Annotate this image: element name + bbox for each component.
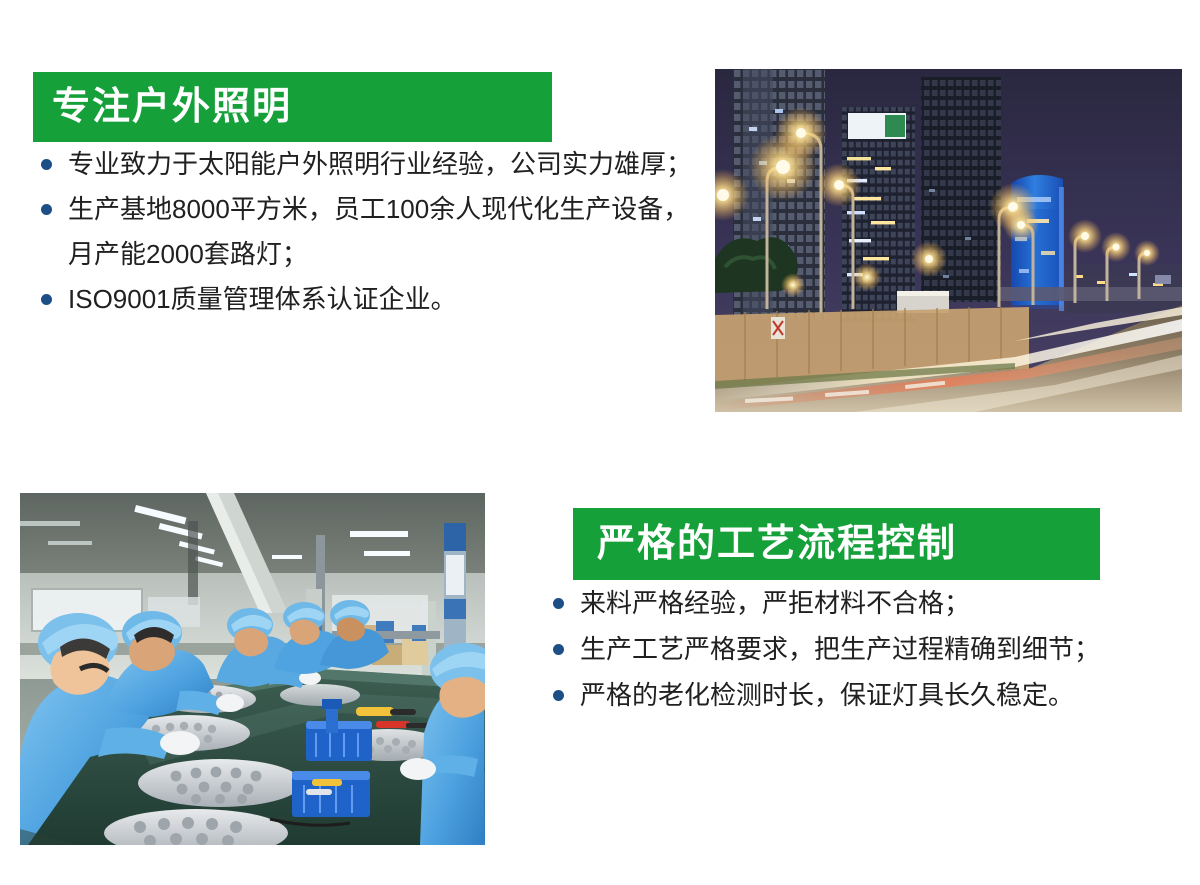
section-heading-outdoor-lighting: 专注户外照明 (33, 72, 552, 142)
list-item: 严格的老化检测时长，保证灯具长久稳定。 (545, 672, 1185, 718)
factory-illustration (20, 493, 485, 845)
list-item: 来料严格经验，严拒材料不合格； (545, 580, 1185, 626)
bullet-dot-icon (41, 294, 52, 305)
section-process-control: 严格的工艺流程控制 来料严格经验，严拒材料不合格； 生产工艺严格要求，把生产过程… (545, 508, 1185, 718)
list-item-label: ISO9001质量管理体系认证企业。 (68, 284, 457, 314)
list-item-label: 生产基地8000平方米，员工100余人现代化生产设备，月产能2000套路灯； (68, 194, 689, 269)
city-night-illustration (715, 69, 1182, 412)
factory-assembly-line-photo (20, 493, 485, 845)
section-outdoor-lighting: 专注户外照明 专业致力于太阳能户外照明行业经验，公司实力雄厚； 生产基地8000… (33, 72, 693, 322)
list-item-label: 严格的老化检测时长，保证灯具长久稳定。 (580, 680, 1074, 710)
list-item: 生产基地8000平方米，员工100余人现代化生产设备，月产能2000套路灯； (33, 187, 693, 277)
bullet-dot-icon (553, 690, 564, 701)
city-night-street-lighting-photo (715, 69, 1182, 412)
section-heading-process-control: 严格的工艺流程控制 (573, 508, 1100, 580)
list-item-label: 来料严格经验，严拒材料不合格； (580, 588, 970, 618)
bullet-dot-icon (41, 204, 52, 215)
list-item-label: 专业致力于太阳能户外照明行业经验，公司实力雄厚； (68, 149, 692, 179)
bullet-list-outdoor-lighting: 专业致力于太阳能户外照明行业经验，公司实力雄厚； 生产基地8000平方米，员工1… (33, 142, 693, 322)
list-item: ISO9001质量管理体系认证企业。 (33, 277, 693, 322)
list-item-label: 生产工艺严格要求，把生产过程精确到细节； (580, 634, 1100, 664)
list-item: 生产工艺严格要求，把生产过程精确到细节； (545, 626, 1185, 672)
bullet-dot-icon (41, 159, 52, 170)
bullet-list-process-control: 来料严格经验，严拒材料不合格； 生产工艺严格要求，把生产过程精确到细节； 严格的… (545, 580, 1185, 718)
bullet-dot-icon (553, 598, 564, 609)
bullet-dot-icon (553, 644, 564, 655)
list-item: 专业致力于太阳能户外照明行业经验，公司实力雄厚； (33, 142, 693, 187)
